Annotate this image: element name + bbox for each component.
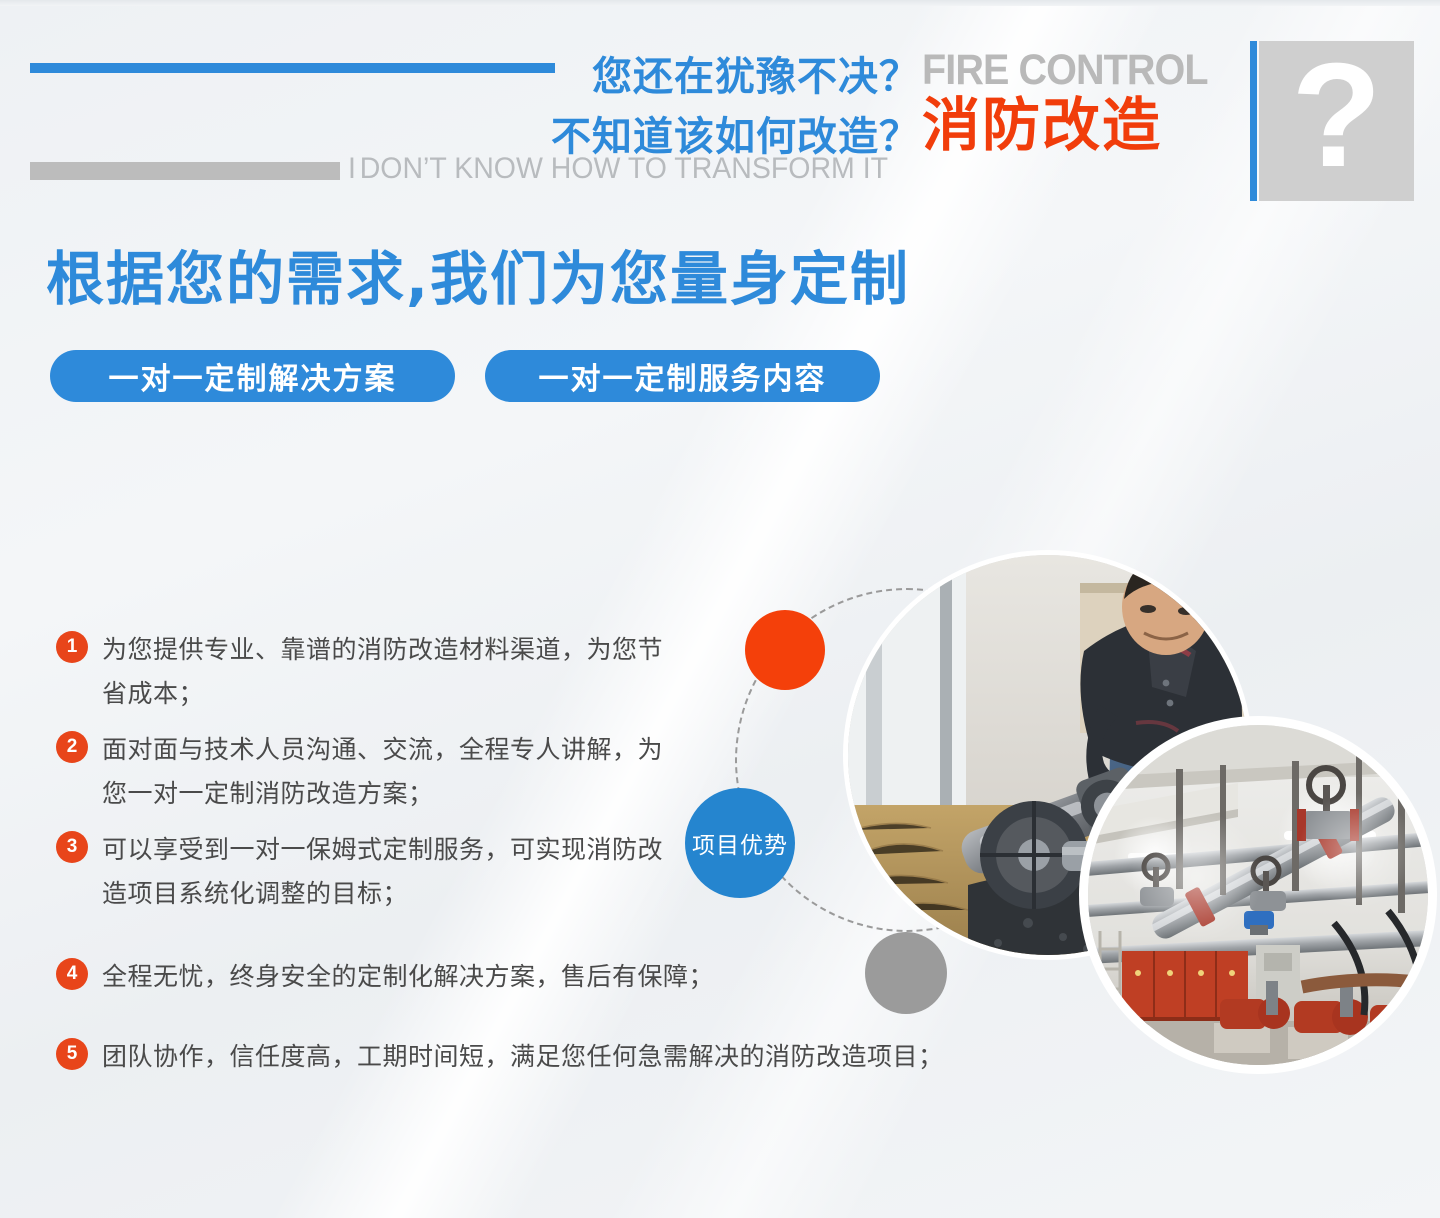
pill-custom-service[interactable]: 一对一定制服务内容 xyxy=(485,350,880,402)
list-item-text: 面对面与技术人员沟通、交流，全程专人讲解，为您一对一定制消防改造方案； xyxy=(102,728,666,816)
project-advantage-badge: 项目优势 xyxy=(685,788,795,898)
header: 您还在犹豫不决？ 不知道该如何改造？ FIRE CONTROL 消防改造 IDO… xyxy=(0,0,1440,220)
list-number-badge: 3 xyxy=(56,831,88,863)
list-number-badge: 1 xyxy=(56,631,88,663)
advantages-diagram: 项目优势 xyxy=(660,540,1440,1100)
list-item: 3 可以享受到一对一保姆式定制服务，可实现消防改造项目系统化调整的目标； xyxy=(56,828,676,916)
header-question-line-1: 您还在犹豫不决？ xyxy=(592,44,920,102)
list-number-badge: 2 xyxy=(56,731,88,763)
poster-page: 您还在犹豫不决？ 不知道该如何改造？ FIRE CONTROL 消防改造 IDO… xyxy=(0,0,1440,1218)
pill-custom-solution[interactable]: 一对一定制解决方案 xyxy=(50,350,455,402)
header-blue-rule xyxy=(30,63,555,73)
list-item: 2 面对面与技术人员沟通、交流，全程专人讲解，为您一对一定制消防改造方案； xyxy=(56,728,666,816)
list-item-text: 全程无忧，终身安全的定制化解决方案，售后有保障； xyxy=(102,955,714,999)
fire-pump-room-photo xyxy=(1088,725,1428,1065)
orange-dot-marker xyxy=(745,610,825,690)
list-item-text: 为您提供专业、靠谱的消防改造材料渠道，为您节省成本； xyxy=(102,628,666,716)
header-english-title: FIRE CONTROL xyxy=(922,46,1208,95)
list-number-badge: 5 xyxy=(56,1038,88,1070)
page-title: 根据您的需求,我们为您量身定制 xyxy=(46,248,910,312)
question-mark-glyph-icon: ? xyxy=(1259,41,1414,201)
list-item-text: 可以享受到一对一保姆式定制服务，可实现消防改造项目系统化调整的目标； xyxy=(102,828,676,916)
header-vertical-accent-bar xyxy=(1250,41,1257,201)
gray-dot-marker xyxy=(865,932,947,1014)
list-number-badge: 4 xyxy=(56,958,88,990)
question-mark-box: ? xyxy=(1259,41,1414,201)
header-english-subtitle: IDON’T KNOW HOW TO TRANSFORM IT xyxy=(348,152,888,186)
header-chinese-title: 消防改造 xyxy=(922,96,1162,154)
pill-button-group: 一对一定制解决方案 一对一定制服务内容 xyxy=(50,350,880,402)
header-subtitle-pipe: I xyxy=(348,152,360,185)
list-item: 1 为您提供专业、靠谱的消防改造材料渠道，为您节省成本； xyxy=(56,628,666,716)
header-gray-rule xyxy=(30,162,340,180)
header-subtitle-text: DON’T KNOW HOW TO TRANSFORM IT xyxy=(360,152,888,185)
